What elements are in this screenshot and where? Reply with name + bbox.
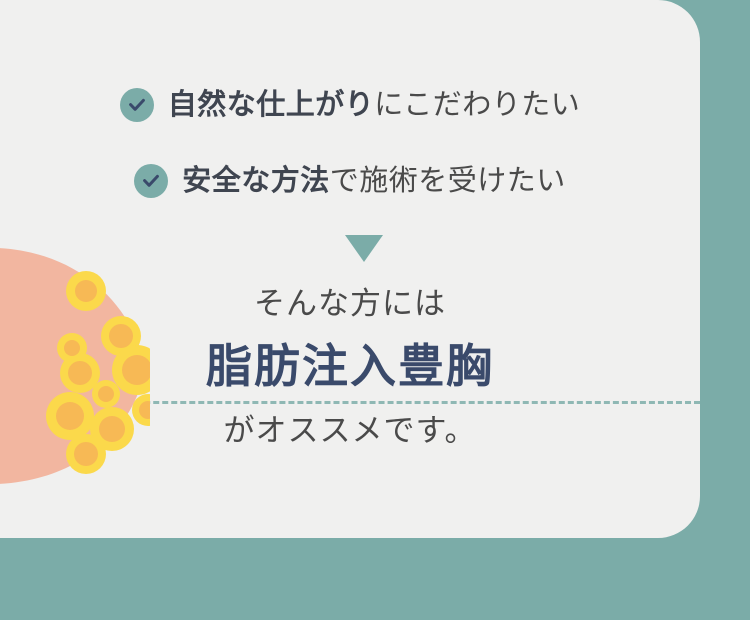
checklist: 自然な仕上がりにこだわりたい 安全な方法で施術を受けたい [0,74,700,212]
tail-text: がオススメです。 [0,412,700,449]
check-circle-icon [120,88,154,122]
list-item-rest: にこだわりたい [374,89,580,121]
dashed-divider [0,401,700,404]
list-item-text: 安全な方法で施術を受けたい [182,167,566,196]
list-item-emphasis: 自然な仕上がり [168,89,375,121]
lead-text: そんな方には [0,285,700,322]
list-item-rest: で施術を受けたい [330,165,566,197]
list-item-emphasis: 安全な方法 [182,165,330,197]
content-card: 自然な仕上がりにこだわりたい 安全な方法で施術を受けたい そんな方には 脂肪注入… [0,0,700,538]
list-item-text: 自然な仕上がりにこだわりたい [168,91,580,120]
triangle-down-icon [345,235,383,262]
list-item: 安全な方法で施術を受けたい [0,150,700,212]
check-circle-icon [134,164,168,198]
page-title: 脂肪注入豊胸 [0,340,700,393]
list-item: 自然な仕上がりにこだわりたい [0,74,700,136]
